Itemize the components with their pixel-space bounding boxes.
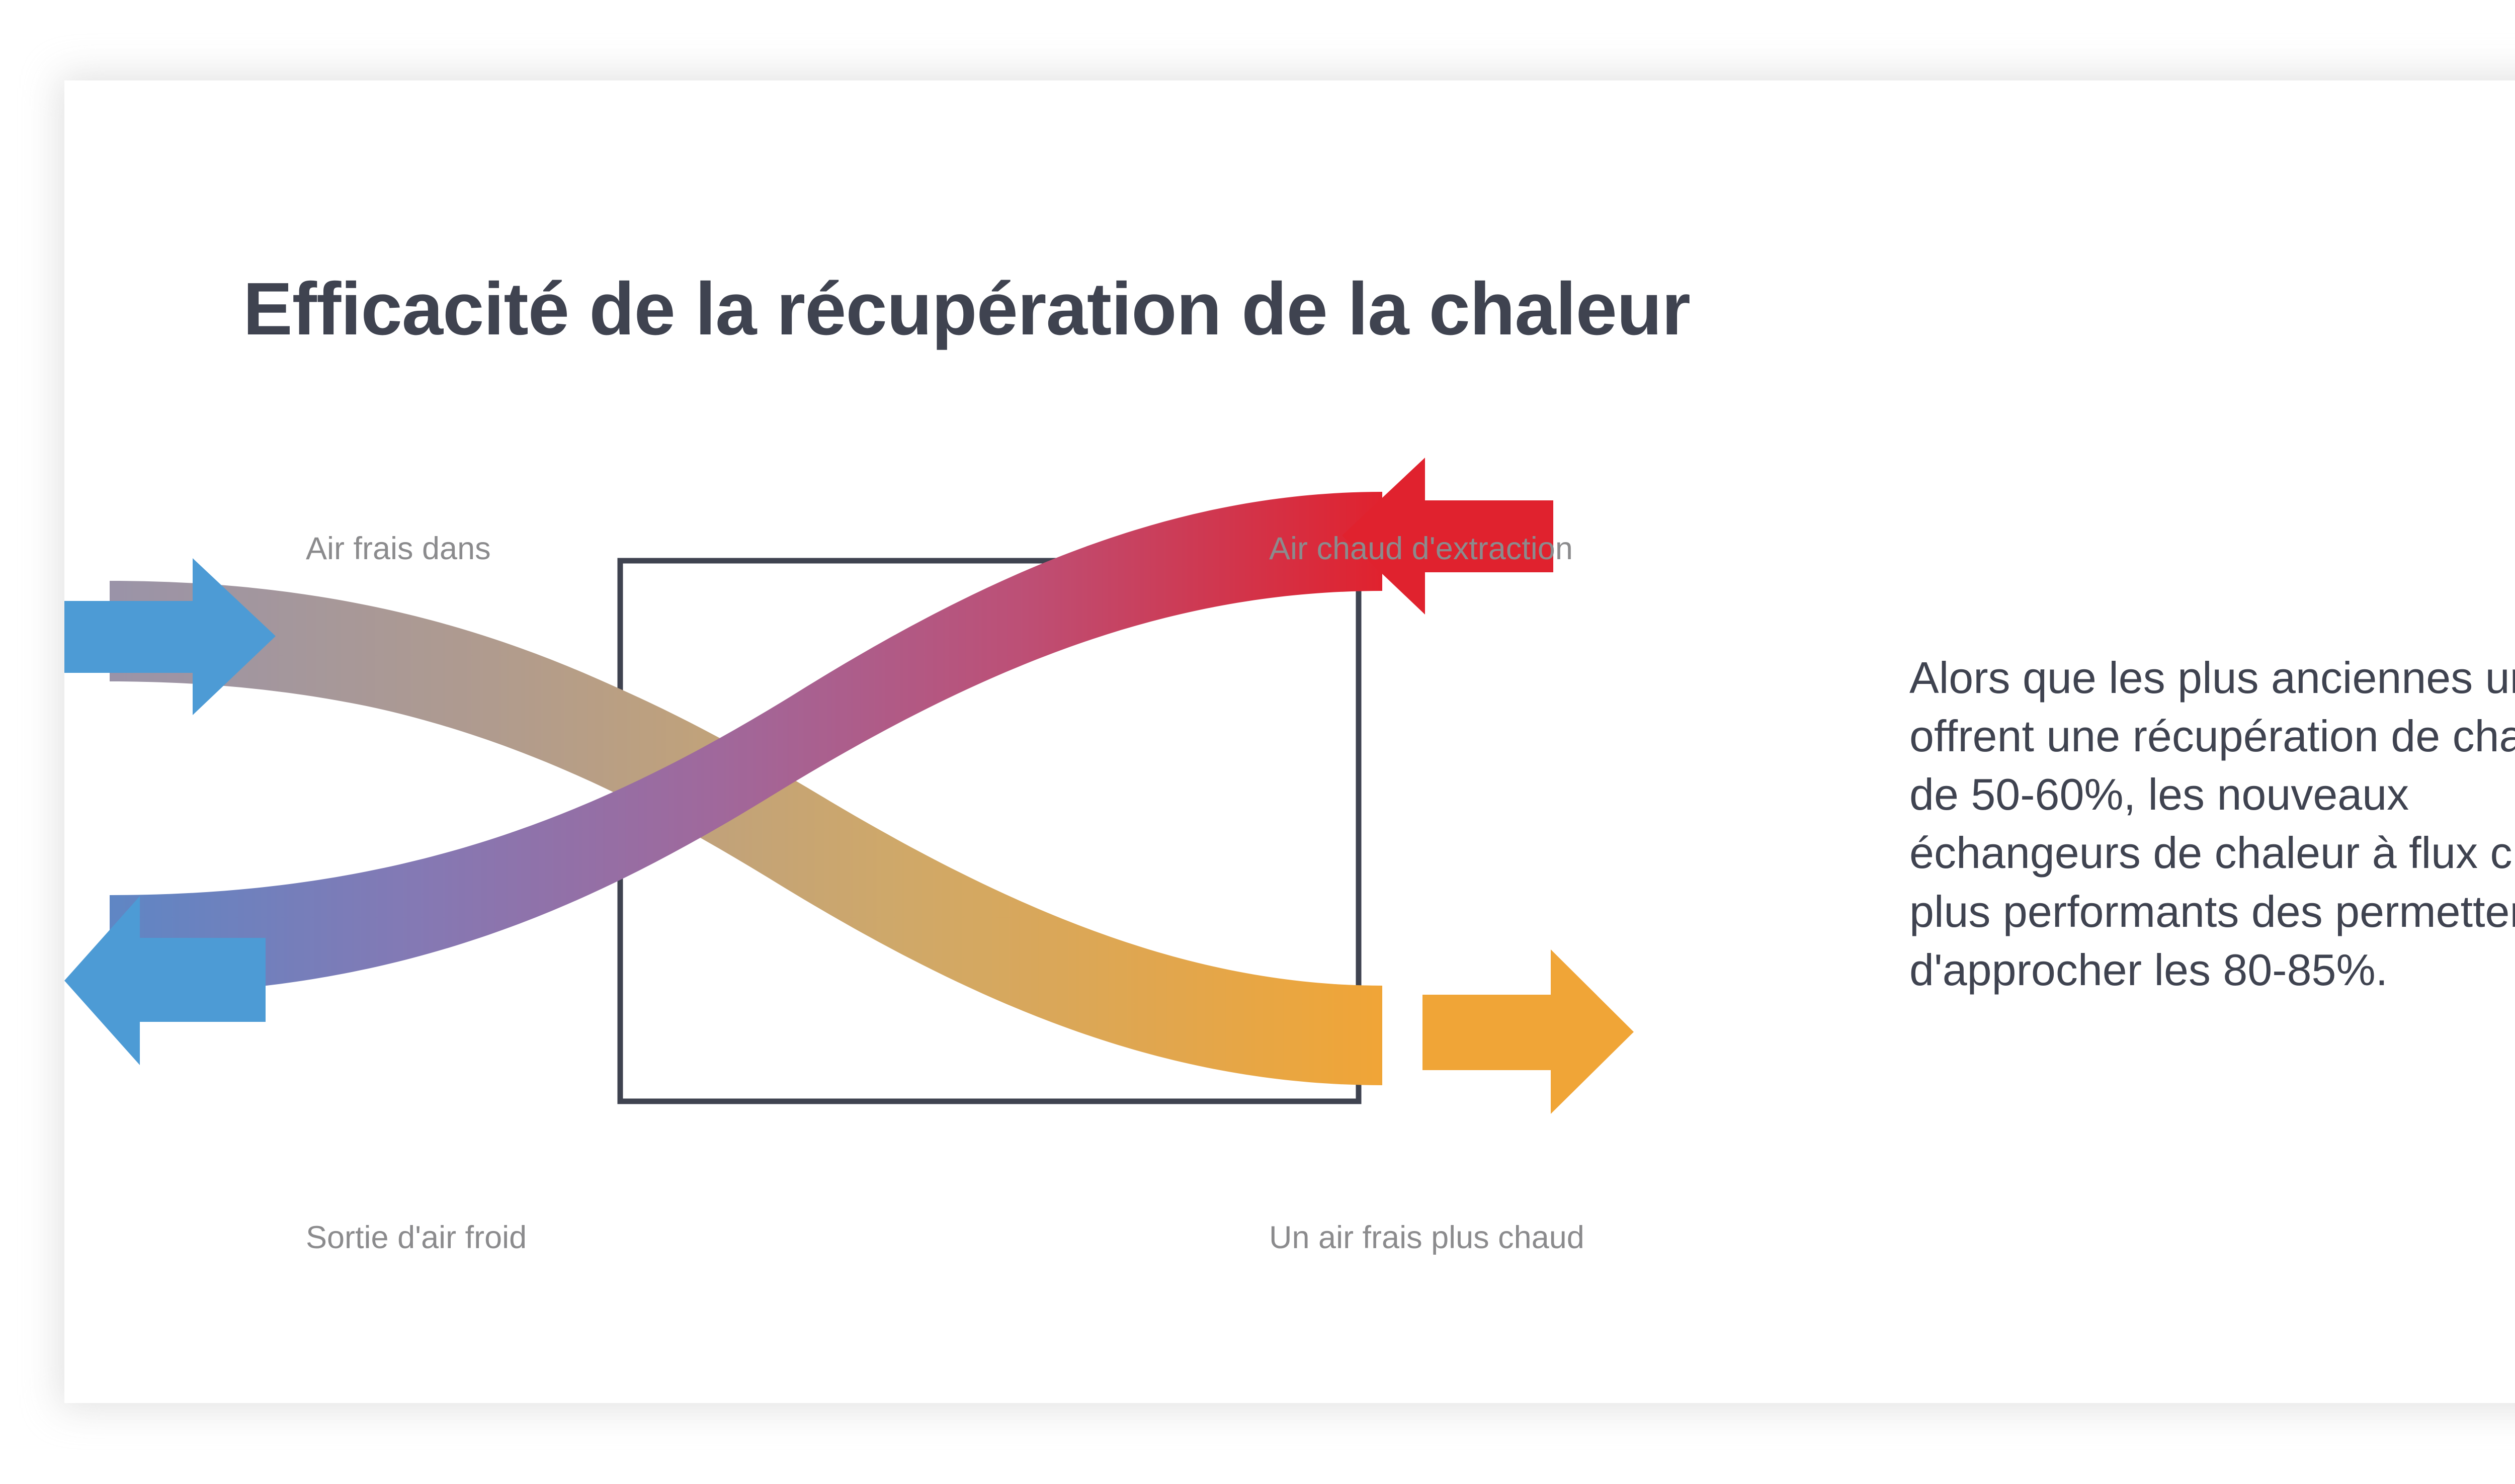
body-paragraph: Alors que les plus anciennes unités offr… [1909,649,2515,999]
body-line: offrent une récupération de chaleur [1909,707,2515,765]
label-air-frais-dans: Air frais dans [306,531,491,567]
body-line: de 50-60%, les nouveaux [1909,765,2515,824]
body-line: plus performants des permettent [1909,883,2515,941]
arrow-warm-fresh-air-out-icon [1422,949,1634,1114]
infographic-card: Efficacité de la récupération de la chal… [64,80,2515,1403]
body-line: d'approcher les 80-85%. [1909,941,2515,999]
flow-ribbon-top-left-to-bottom-right [110,581,1382,1085]
label-air-frais-plus-chaud: Un air frais plus chaud [1269,1219,1584,1256]
label-sortie-air-froid: Sortie d'air froid [306,1219,527,1256]
page-background: Efficacité de la récupération de la chal… [0,0,2515,1484]
flow-ribbon-bottom-left-to-top-right [110,492,1382,995]
body-line: Alors que les plus anciennes unités [1909,649,2515,707]
arrow-fresh-air-in-icon [64,558,276,715]
label-air-chaud-extraction: Air chaud d'extraction [1269,531,1573,567]
body-line: échangeurs de chaleur à flux croisés [1909,824,2515,882]
